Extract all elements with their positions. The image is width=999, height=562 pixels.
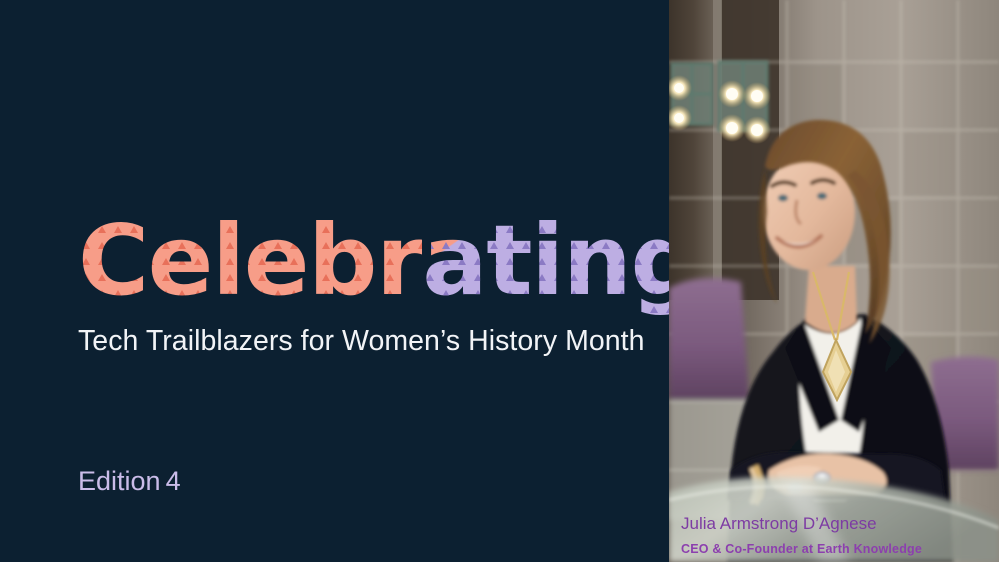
title-word-celebrating: Celebrating (78, 206, 638, 316)
title-segment-coral: Celebr (78, 206, 422, 316)
caption-person-name: Julia Armstrong D’Agnese (681, 512, 999, 536)
edition-text: Edition (78, 466, 161, 496)
photo-caption: Julia Armstrong D’Agnese CEO & Co-Founde… (681, 512, 999, 558)
caption-person-role: CEO & Co-Founder at Earth Knowledge (681, 541, 999, 558)
slide-title: Celebrating (78, 206, 638, 316)
edition-label: Edition4 (78, 463, 181, 499)
title-segment-gradient: a (422, 206, 486, 316)
title-segment-purple: ting (486, 206, 698, 316)
slide-subtitle: Tech Trailblazers for Women’s History Mo… (78, 322, 645, 360)
edition-number: 4 (166, 466, 181, 496)
slide-left-panel: Celebrating Tech Trailblazers for Women’… (0, 0, 669, 562)
presentation-slide: Celebrating Tech Trailblazers for Women’… (0, 0, 999, 562)
photo-illustration (669, 0, 999, 562)
portrait-photo: Julia Armstrong D’Agnese CEO & Co-Founde… (669, 0, 999, 562)
